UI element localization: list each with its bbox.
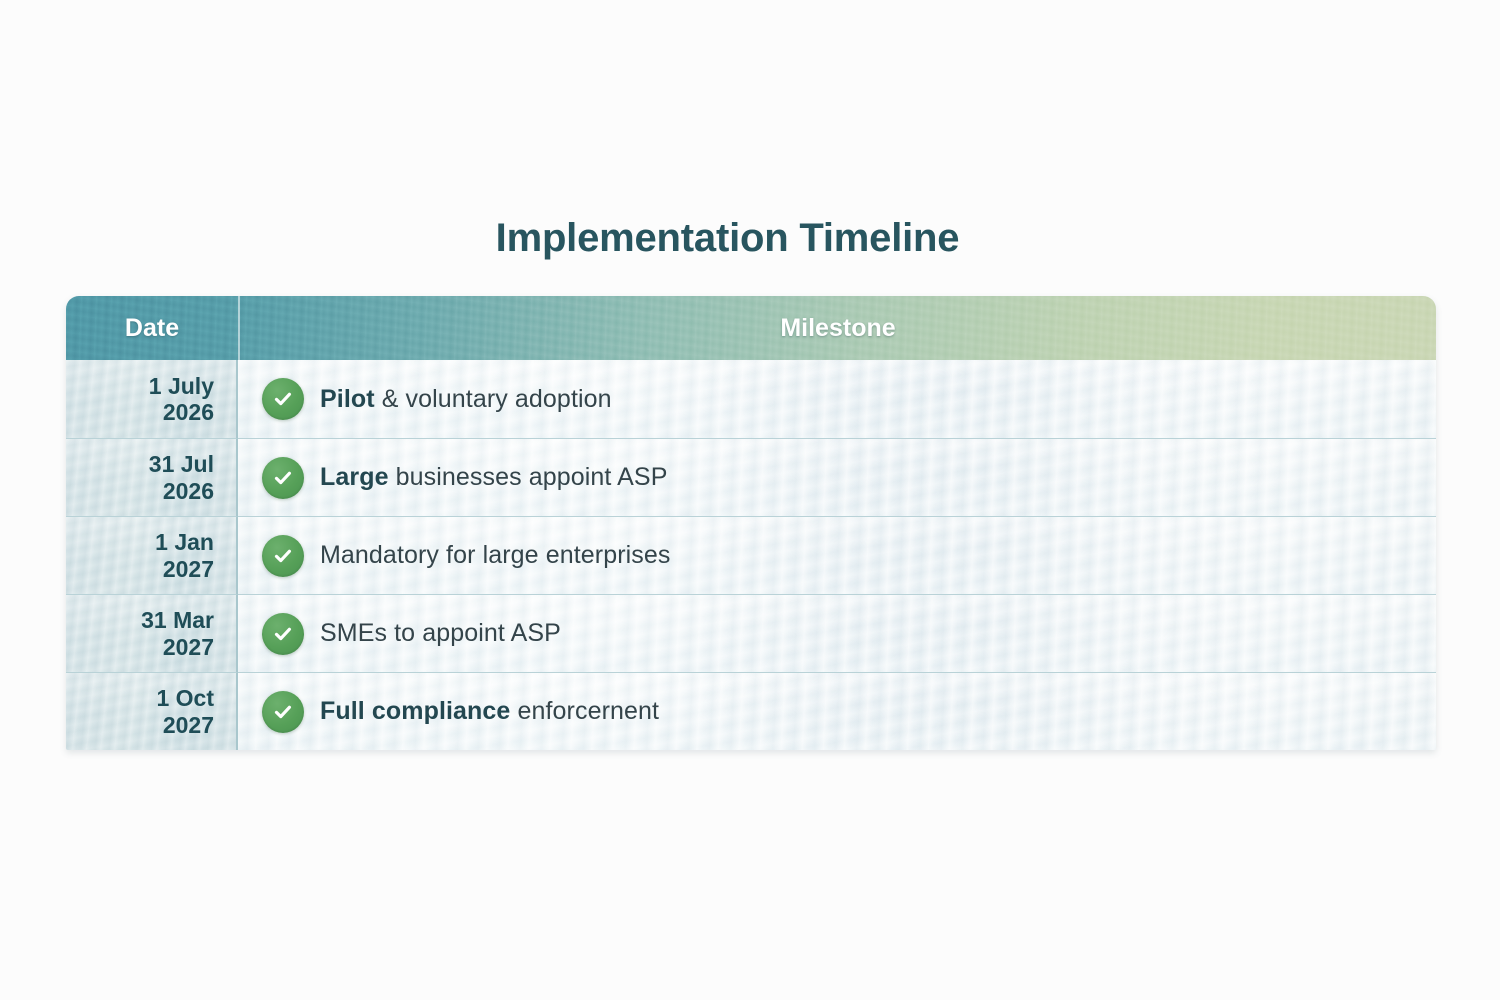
milestone-text: Full compliance enforcernent [320, 697, 659, 726]
check-circle-icon [262, 457, 304, 499]
cell-milestone: SMEs to appoint ASP [238, 594, 1436, 672]
milestone-text-bold: Large [320, 463, 389, 491]
cell-date: 31 Mar 2027 [66, 594, 238, 672]
milestone-text-rest: SMEs to appoint ASP [320, 619, 561, 647]
milestone-text: Mandatory for large enterprises [320, 541, 671, 570]
date-day: 1 Oct [156, 685, 214, 711]
table-row: 1 Jan 2027 Mandatory for large enterpris… [66, 516, 1436, 594]
milestone-text: Pilot & voluntary adoption [320, 385, 612, 414]
date-year: 2026 [163, 478, 214, 504]
check-circle-icon [262, 535, 304, 577]
cell-milestone: Large businesses appoint ASP [238, 438, 1436, 516]
date-year: 2027 [163, 634, 214, 660]
table-row: 31 Mar 2027 SMEs to appoint ASP [66, 594, 1436, 672]
check-circle-icon [262, 378, 304, 420]
milestone-text-rest: businesses appoint ASP [389, 463, 668, 491]
date-year: 2027 [163, 712, 214, 738]
milestone-text: Large businesses appoint ASP [320, 463, 667, 492]
date-year: 2026 [163, 399, 214, 425]
table-row: 1 Oct 2027 Full compliance enforcernent [66, 672, 1436, 750]
check-circle-icon [262, 613, 304, 655]
date-day: 1 Jan [155, 529, 214, 555]
column-header-date: Date [66, 296, 240, 360]
cell-milestone: Pilot & voluntary adoption [238, 360, 1436, 438]
milestone-text-bold: Full compliance [320, 697, 510, 725]
table-header-row: Date Milestone [66, 296, 1436, 360]
table-row: 1 July 2026 Pilot & voluntary adoption [66, 360, 1436, 438]
date-day: 31 Mar [141, 607, 214, 633]
column-header-milestone: Milestone [240, 296, 1436, 360]
milestone-text-bold: Pilot [320, 385, 375, 413]
table-row: 31 Jul 2026 Large businesses appoint ASP [66, 438, 1436, 516]
cell-date: 1 Oct 2027 [66, 672, 238, 750]
milestone-text-rest: enforcernent [510, 697, 659, 725]
milestone-text: SMEs to appoint ASP [320, 619, 561, 648]
cell-milestone: Full compliance enforcernent [238, 672, 1436, 750]
check-circle-icon [262, 691, 304, 733]
milestone-text-rest: Mandatory for large enterprises [320, 541, 671, 569]
cell-date: 31 Jul 2026 [66, 438, 238, 516]
table-body: 1 July 2026 Pilot & voluntary adoption 3… [66, 360, 1436, 750]
cell-date: 1 Jan 2027 [66, 516, 238, 594]
cell-milestone: Mandatory for large enterprises [238, 516, 1436, 594]
cell-date: 1 July 2026 [66, 360, 238, 438]
implementation-timeline-table: Date Milestone 1 July 2026 Pilot & volun… [66, 296, 1436, 750]
milestone-text-rest: & voluntary adoption [375, 385, 612, 413]
date-day: 1 July [149, 373, 214, 399]
date-year: 2027 [163, 556, 214, 582]
date-day: 31 Jul [149, 451, 214, 477]
page-title: Implementation Timeline [0, 216, 1455, 261]
